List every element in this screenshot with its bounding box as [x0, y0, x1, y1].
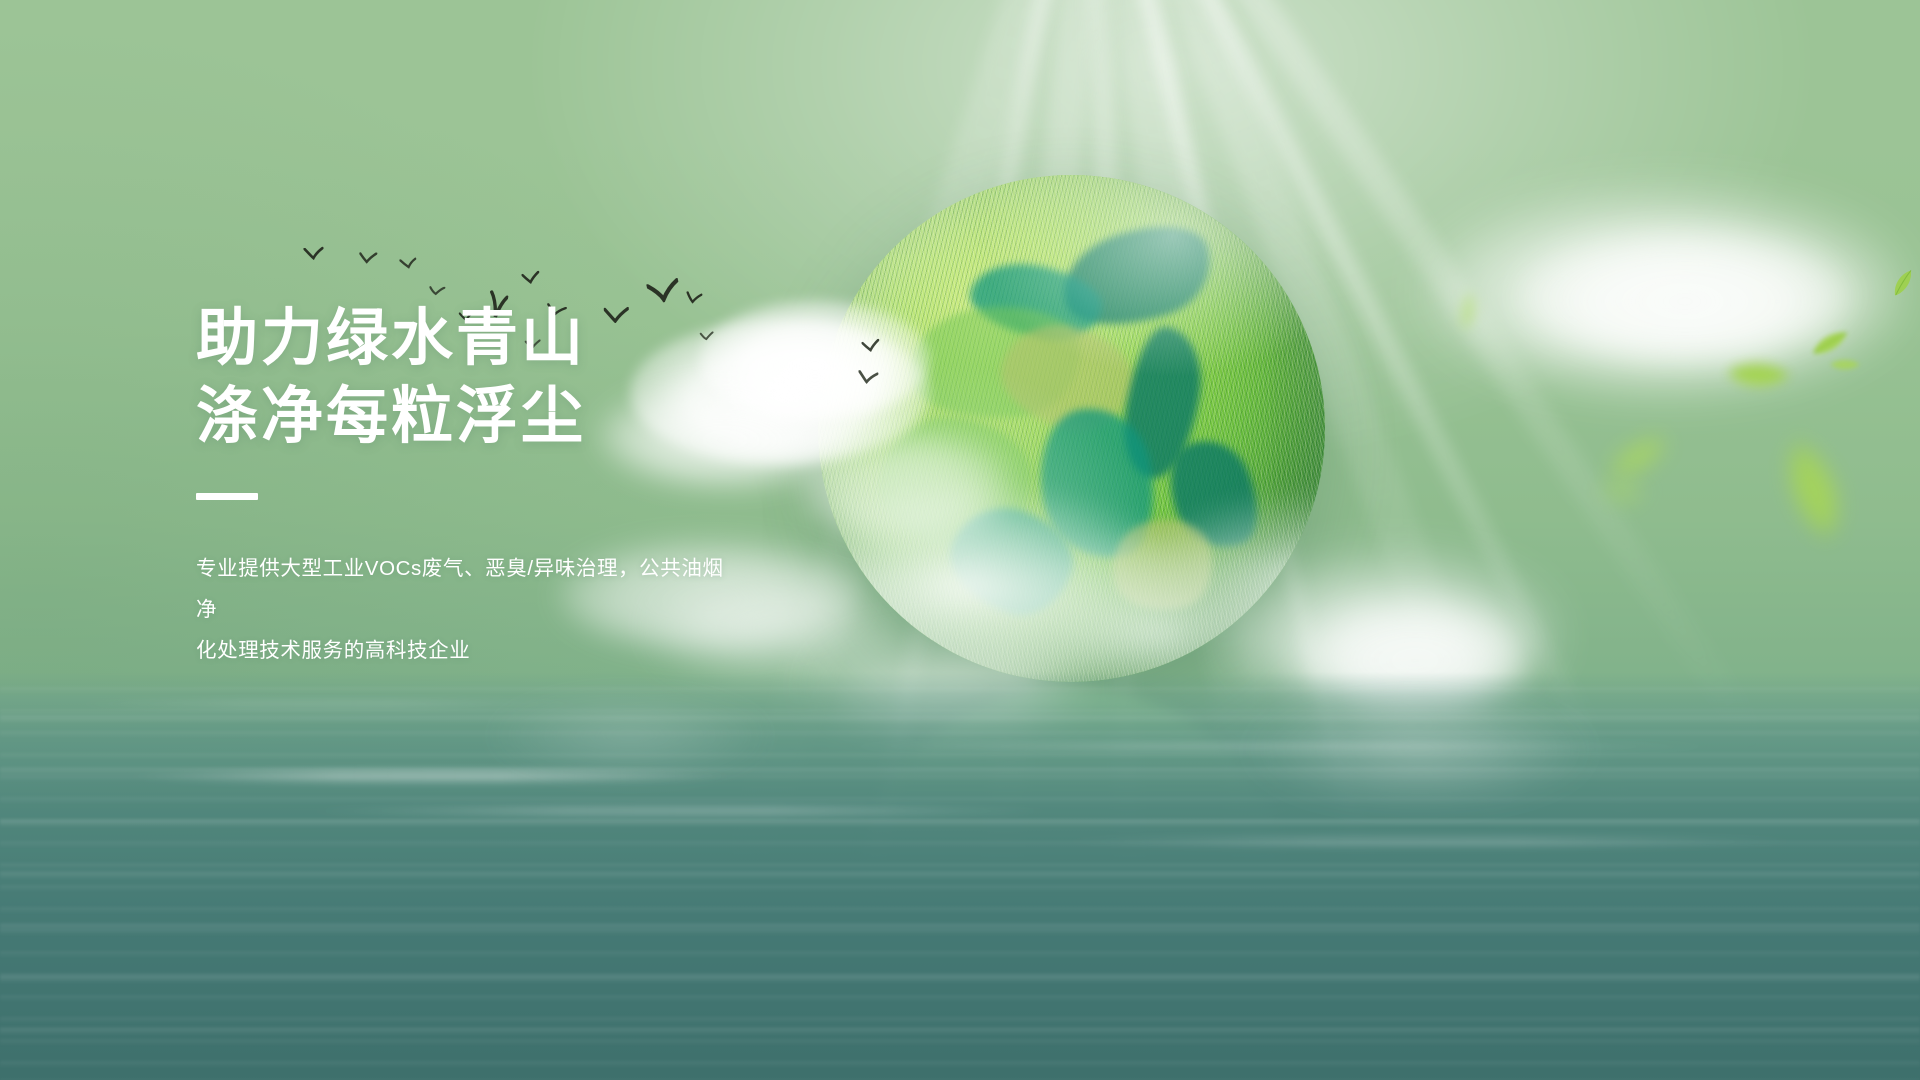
subtitle-line-1: 专业提供大型工业VOCs废气、恶臭/异味治理，公共油烟净 — [196, 548, 736, 630]
subtitle-line-2: 化处理技术服务的高科技企业 — [196, 630, 736, 671]
headline-divider — [196, 493, 258, 500]
headline-line-2: 涤净每粒浮尘 — [196, 378, 896, 456]
water-surface — [0, 672, 1920, 1080]
hero-subtitle: 专业提供大型工业VOCs废气、恶臭/异味治理，公共油烟净 化处理技术服务的高科技… — [196, 548, 736, 671]
headline-line-1: 助力绿水青山 — [196, 304, 586, 373]
hero-banner: 助力绿水青山 涤净每粒浮尘 专业提供大型工业VOCs废气、恶臭/异味治理，公共油… — [0, 0, 1920, 1080]
page-title: 助力绿水青山 涤净每粒浮尘 — [196, 300, 896, 455]
hero-copy: 助力绿水青山 涤净每粒浮尘 专业提供大型工业VOCs废气、恶臭/异味治理，公共油… — [196, 300, 896, 692]
